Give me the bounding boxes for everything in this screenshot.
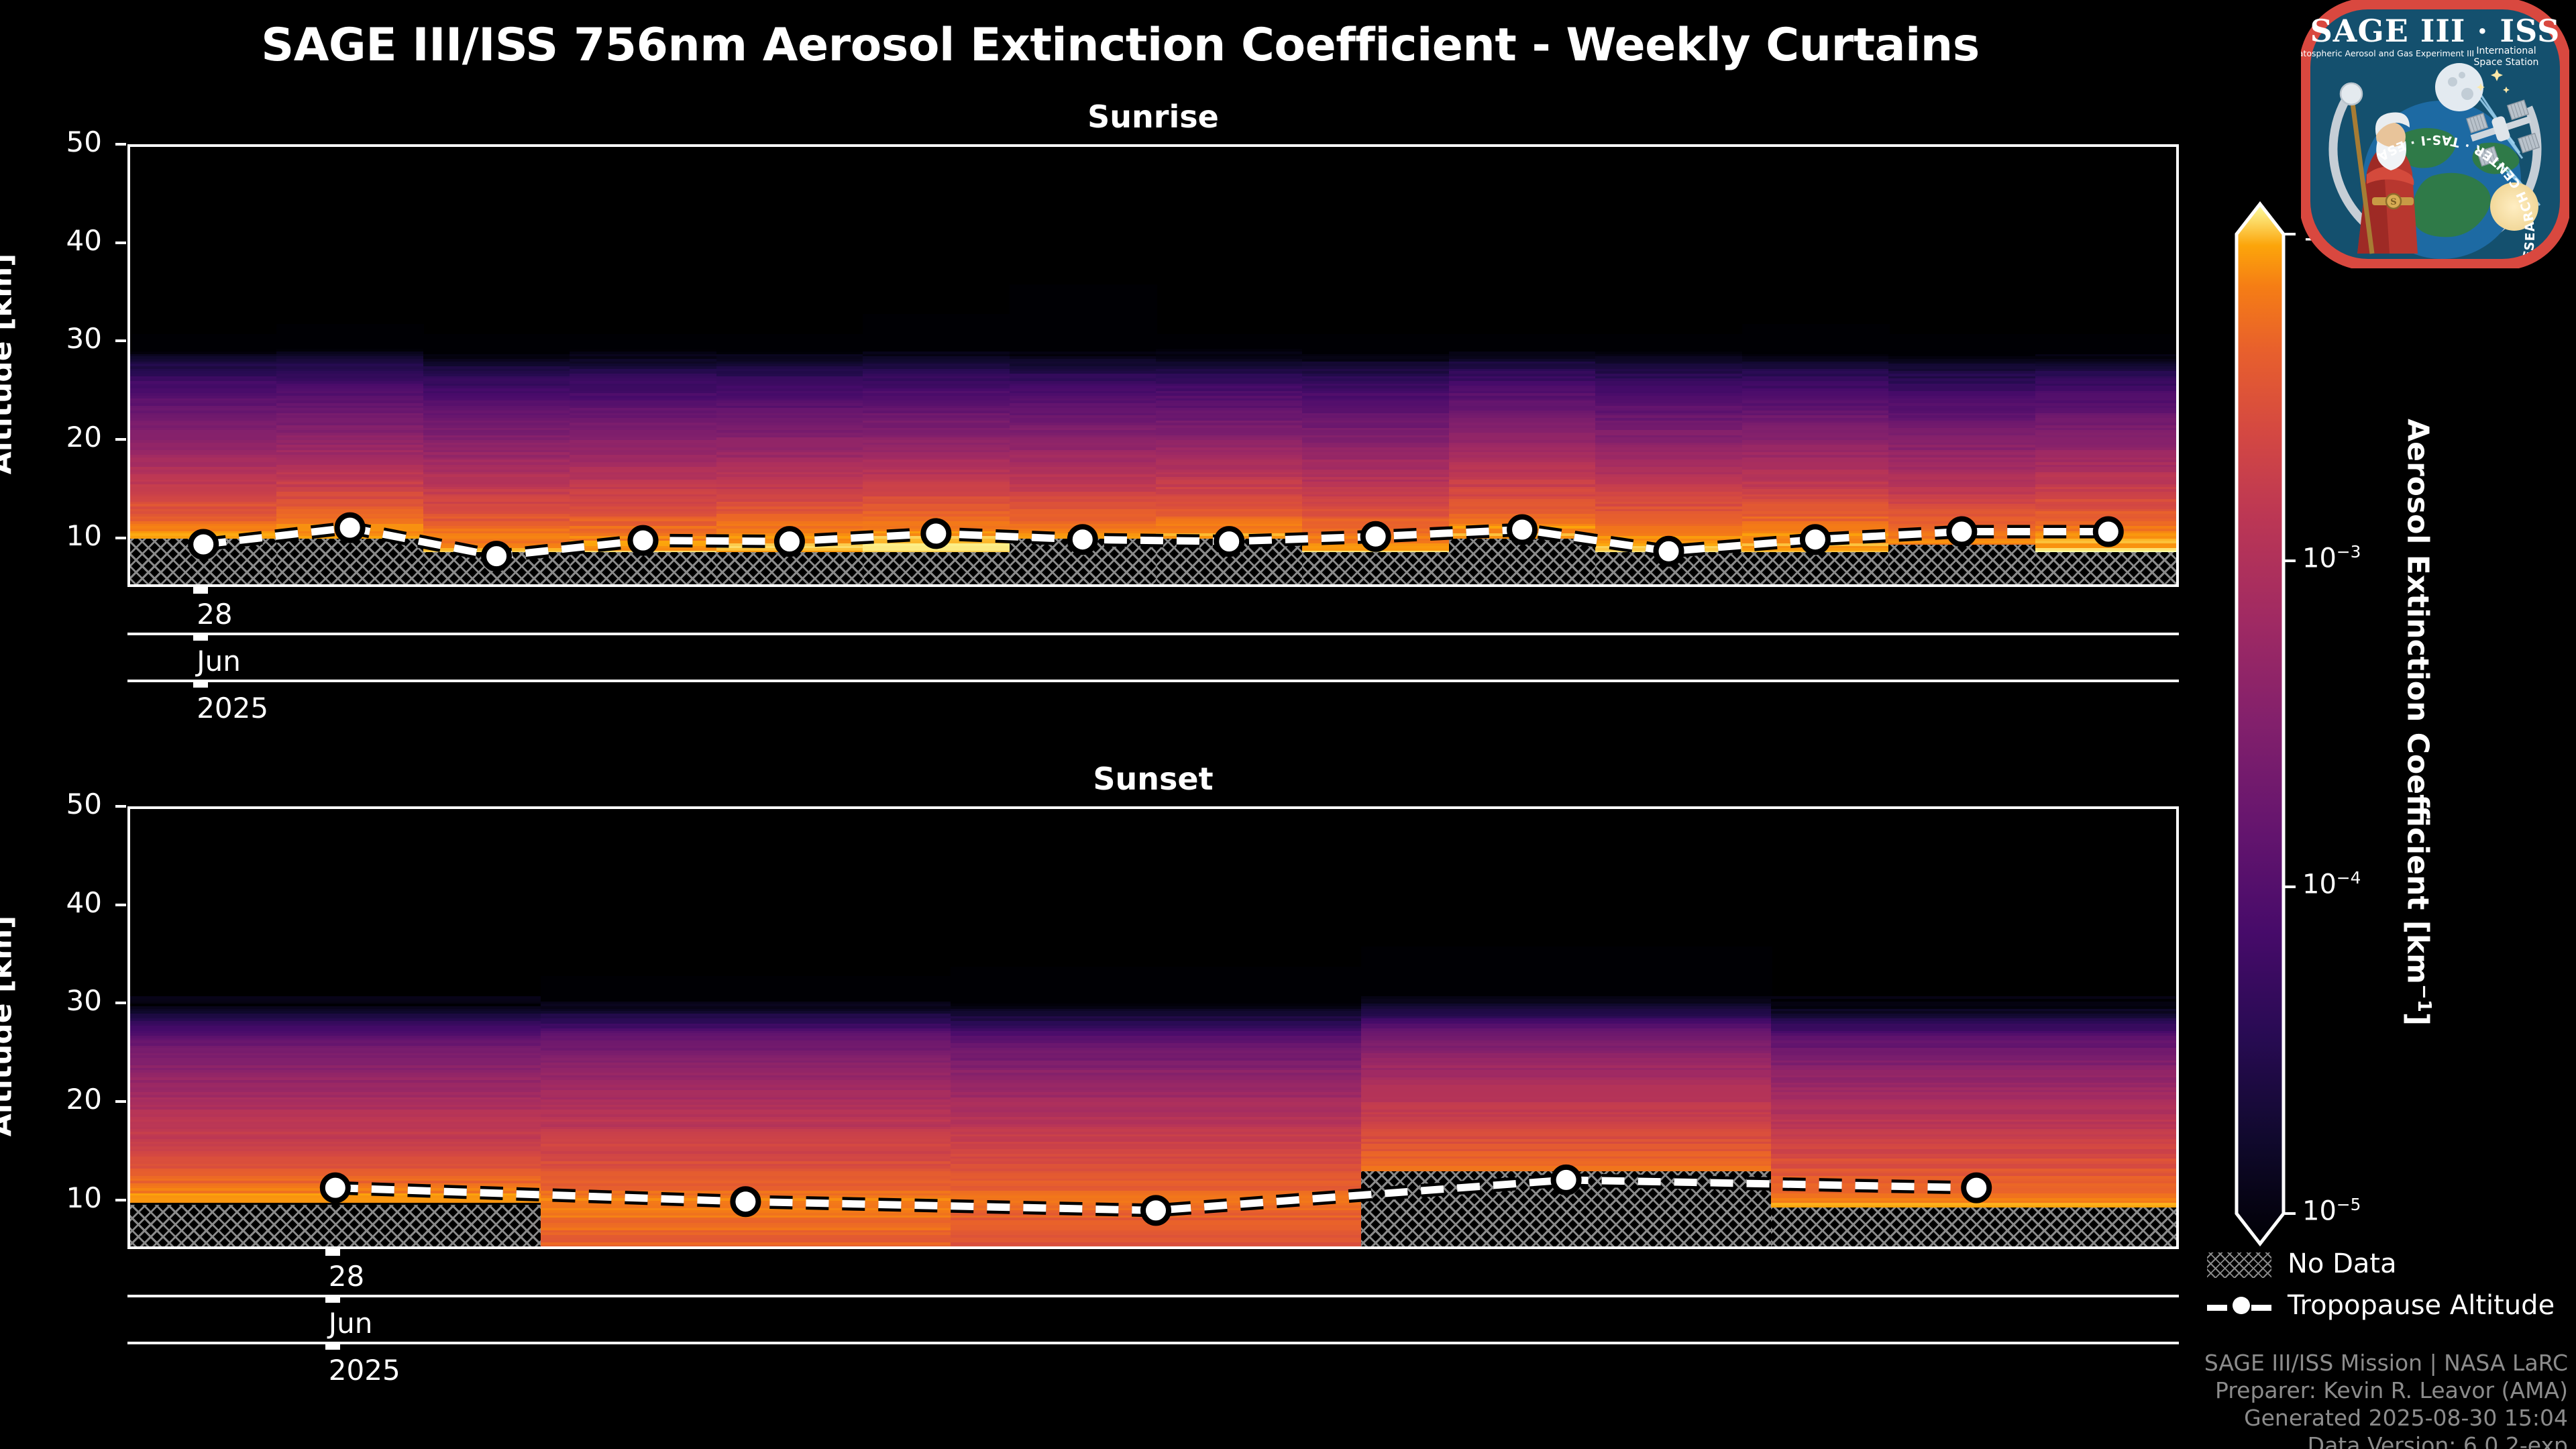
heatmap-column [1771,809,2179,1246]
mission-patch-svg: SBALL · NASA LANGLEY RESEARCH CENTER · T… [2301,0,2569,268]
heatmap-column [2035,147,2179,584]
heatmap-column [1156,147,1303,584]
x-tick-day-label: 28 [197,598,232,631]
svg-text:International: International [2476,46,2536,56]
heatmap-column [1361,809,1772,1246]
x-tick-month-label: Jun [197,645,241,678]
plot-area-sunset[interactable] [127,806,2179,1249]
no-data-hatch-region [863,552,1010,587]
x-tick-year-label: 2025 [197,692,268,724]
no-data-hatch-region [1742,552,1890,587]
svg-text:Space Station: Space Station [2474,57,2539,68]
y-tick-label: 10 [28,519,102,552]
colorbar-tick-label: 10−3 [2302,542,2361,574]
heatmap-column [1449,147,1597,584]
colorbar-tick-label: 10−4 [2302,868,2361,900]
x-axis-separator [127,1342,2179,1344]
heatmap-column [1595,147,1743,584]
y-tick-mark [115,537,126,539]
hatch-swatch-icon [2207,1252,2271,1278]
heatmap-column [276,147,424,584]
legend: No Data Tropopause Altitude [2207,1244,2569,1328]
colorbar-title: Aerosol Extinction Coefficient [km−1] [2401,233,2435,1212]
y-axis-label: Altitude [km] [0,805,19,1248]
x-tick-year-mark [325,1342,340,1350]
y-tick-label: 30 [28,322,102,355]
heatmap-column [570,147,717,584]
page-title: SAGE III/ISS 756nm Aerosol Extinction Co… [0,19,2241,72]
svg-text:SAGE III · ISS: SAGE III · ISS [2310,13,2561,49]
heatmap-column [1742,147,1890,584]
x-axis-separator [127,633,2179,635]
credit-line-generated: Generated 2025-08-30 15:04 [2139,1405,2568,1432]
heatmap-sunrise [130,147,2176,584]
y-tick-mark [115,1100,126,1103]
no-data-hatch-region [716,552,864,587]
no-data-hatch-region [570,552,717,587]
x-tick-day-mark [193,586,208,594]
x-tick-year-label: 2025 [329,1354,400,1387]
heatmap-column [716,147,864,584]
svg-text:Stratospheric Aerosol and Gas: Stratospheric Aerosol and Gas Experiment… [2301,48,2474,58]
x-tick-month-mark [325,1295,340,1303]
heatmap-column [541,809,952,1246]
svg-text:S: S [2390,197,2396,207]
no-data-hatch-region [1302,552,1450,587]
x-axis-separator [127,680,2179,682]
y-tick-mark [115,241,126,244]
y-tick-mark [115,339,126,342]
y-tick-label: 40 [28,886,102,919]
y-tick-mark [115,805,126,808]
y-tick-mark [115,438,126,441]
colorbar-tick-mark [2285,233,2296,235]
legend-label-tropopause: Tropopause Altitude [2288,1290,2555,1321]
plot-area-sunrise[interactable] [127,144,2179,587]
legend-item-no-data: No Data [2207,1244,2569,1286]
no-data-hatch-region [423,552,571,587]
sage-iii-iss-mission-patch-logo: SBALL · NASA LANGLEY RESEARCH CENTER · T… [2301,0,2569,195]
circle-marker-icon [2233,1297,2250,1314]
credit-line-mission: SAGE III/ISS Mission | NASA LaRC [2139,1350,2568,1377]
credit-line-preparer: Preparer: Kevin R. Leavor (AMA) [2139,1377,2568,1405]
no-data-hatch-region [2035,552,2179,587]
no-data-hatch-region [1449,539,1597,587]
y-tick-label: 20 [28,421,102,453]
x-tick-day-mark [325,1248,340,1256]
y-tick-mark [115,904,126,906]
x-tick-month-label: Jun [329,1307,373,1340]
y-tick-mark [115,1199,126,1201]
legend-item-tropopause: Tropopause Altitude [2207,1286,2569,1328]
y-tick-label: 50 [28,788,102,820]
x-tick-day-label: 28 [329,1260,364,1293]
panel-title-sunset: Sunset [127,761,2179,797]
no-data-hatch-region [276,539,424,587]
colorbar-tick-mark [2285,559,2296,562]
heatmap-sunset [130,809,2176,1246]
colorbar-tick-mark [2285,885,2296,888]
y-tick-mark [115,143,126,146]
no-data-hatch-region [1888,545,2036,587]
legend-label-no-data: No Data [2288,1248,2397,1279]
no-data-hatch-region [130,1205,541,1249]
y-tick-mark [115,1002,126,1004]
y-tick-label: 50 [28,125,102,158]
heatmap-column [863,147,1010,584]
y-tick-label: 30 [28,984,102,1017]
panel-title-sunrise: Sunrise [127,99,2179,135]
colorbar[interactable]: 10−210−310−410−5Aerosol Extinction Coeff… [2234,201,2556,1241]
heatmap-column [951,809,1362,1246]
no-data-hatch-region [1595,552,1743,587]
no-data-hatch-region [1010,539,1157,587]
no-data-hatch-region [1361,1171,1772,1249]
no-data-hatch-region [1156,539,1303,587]
colorbar-tick-mark [2285,1212,2296,1215]
y-axis-label: Altitude [km] [0,143,19,586]
credit-line-version: Data Version: 6.0.2-exp [2139,1432,2568,1449]
x-tick-year-mark [193,680,208,688]
heatmap-column [1888,147,2036,584]
heatmap-column [1010,147,1157,584]
figure-canvas: SAGE III/ISS 756nm Aerosol Extinction Co… [0,0,2576,1449]
credit-block: SAGE III/ISS Mission | NASA LaRC Prepare… [2139,1350,2568,1449]
colorbar-gradient[interactable] [2234,201,2286,1246]
colorbar-tick-label: 10−5 [2302,1195,2361,1226]
heatmap-column [423,147,571,584]
heatmap-column [130,809,541,1246]
y-tick-label: 40 [28,224,102,257]
y-tick-label: 20 [28,1083,102,1116]
no-data-hatch-region [130,539,278,587]
heatmap-column [1302,147,1450,584]
heatmap-column [130,147,278,584]
x-axis-separator [127,1295,2179,1297]
x-tick-month-mark [193,633,208,641]
y-tick-label: 10 [28,1181,102,1214]
no-data-hatch-region [1771,1207,2179,1249]
